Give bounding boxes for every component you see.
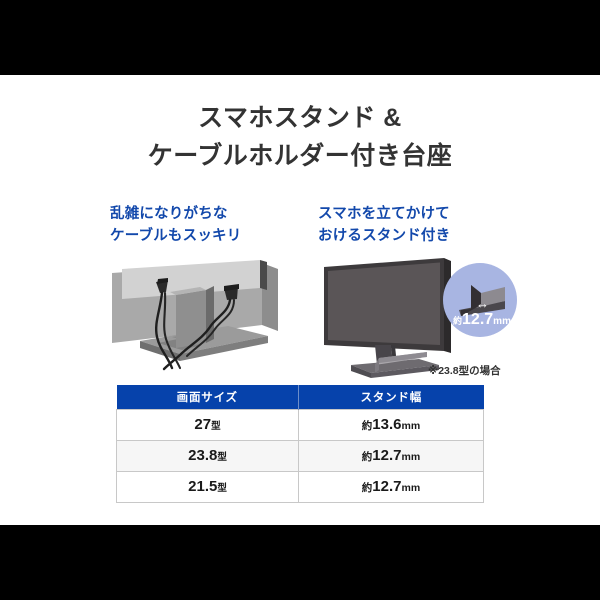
spec-table: 画面サイズ スタンド幅 27型 約13.6mm 23.8型 約12.7mm 21… [116, 385, 484, 503]
screen-size-value: 21.5 [188, 478, 217, 495]
page-title-line-2: ケーブルホルダー付き台座 [0, 137, 600, 175]
feature-phone-stand-label-line-1: スマホを立てかけて [318, 203, 508, 225]
footnote-note: ※23.8型の場合 [428, 363, 501, 378]
stand-width-approx: 約 [362, 420, 373, 432]
letterbox-bottom [0, 525, 600, 600]
table-row: 23.8型 約12.7mm [117, 440, 484, 471]
feature-cable-holder-label: 乱雑になりがちな ケーブルもスッキリ [110, 203, 305, 247]
stand-width-approx: 約 [362, 451, 373, 463]
stand-width-unit: mm [402, 451, 421, 463]
stand-width-unit: mm [402, 420, 421, 432]
monitor-with-phone-stand-illustration: ↔ 約12.7mm [313, 253, 513, 378]
feature-cable-holder-label-line-1: 乱雑になりがちな [110, 203, 305, 225]
stand-width-unit: mm [402, 482, 421, 494]
stand-width-value: 13.6 [372, 416, 401, 433]
screen-size-value: 23.8 [188, 447, 217, 464]
table-row: 27型 約13.6mm [117, 409, 484, 440]
callout-value: 12.7 [462, 311, 493, 328]
table-header-row: 画面サイズ スタンド幅 [117, 385, 484, 409]
table-cell-stand-width: 約12.7mm [299, 471, 484, 502]
feature-cable-holder: 乱雑になりがちな ケーブルもスッキリ [110, 203, 305, 247]
table-cell-screen-size: 21.5型 [117, 471, 299, 502]
screenshot-root: スマホスタンド & ケーブルホルダー付き台座 乱雑になりがちな ケーブルもスッキ… [0, 0, 600, 600]
table-cell-screen-size: 27型 [117, 409, 299, 440]
table-cell-stand-width: 約13.6mm [299, 409, 484, 440]
table-cell-stand-width: 約12.7mm [299, 440, 484, 471]
callout-approx: 約 [453, 316, 462, 326]
double-arrow-horizontal-icon: ↔ [443, 297, 521, 310]
page-title-line-1: スマホスタンド & [0, 99, 600, 137]
table-header-screen-size: 画面サイズ [117, 385, 299, 409]
callout-unit: mm [493, 316, 511, 327]
feature-phone-stand-label-line-2: おけるスタンド付き [318, 225, 508, 247]
stand-width-value: 12.7 [372, 478, 401, 495]
feature-phone-stand: スマホを立てかけて おけるスタンド付き [318, 203, 508, 247]
table-cell-screen-size: 23.8型 [117, 440, 299, 471]
stand-width-value: 12.7 [372, 447, 401, 464]
monitor-base-cable-routing-illustration [110, 255, 305, 370]
screen-size-value: 27 [194, 416, 211, 433]
screen-size-unit: 型 [217, 452, 227, 463]
table-row: 21.5型 約12.7mm [117, 471, 484, 502]
stand-width-approx: 約 [362, 482, 373, 494]
letterbox-top [0, 0, 600, 75]
product-infographic-canvas: スマホスタンド & ケーブルホルダー付き台座 乱雑になりがちな ケーブルもスッキ… [0, 75, 600, 525]
table-header-stand-width: スタンド幅 [299, 385, 484, 409]
screen-size-unit: 型 [211, 421, 221, 432]
page-title: スマホスタンド & ケーブルホルダー付き台座 [0, 99, 600, 175]
feature-cable-holder-label-line-2: ケーブルもスッキリ [110, 225, 305, 247]
screen-size-unit: 型 [217, 483, 227, 494]
feature-phone-stand-label: スマホを立てかけて おけるスタンド付き [318, 203, 508, 247]
callout-measurement: ↔ 約12.7mm [443, 297, 521, 329]
